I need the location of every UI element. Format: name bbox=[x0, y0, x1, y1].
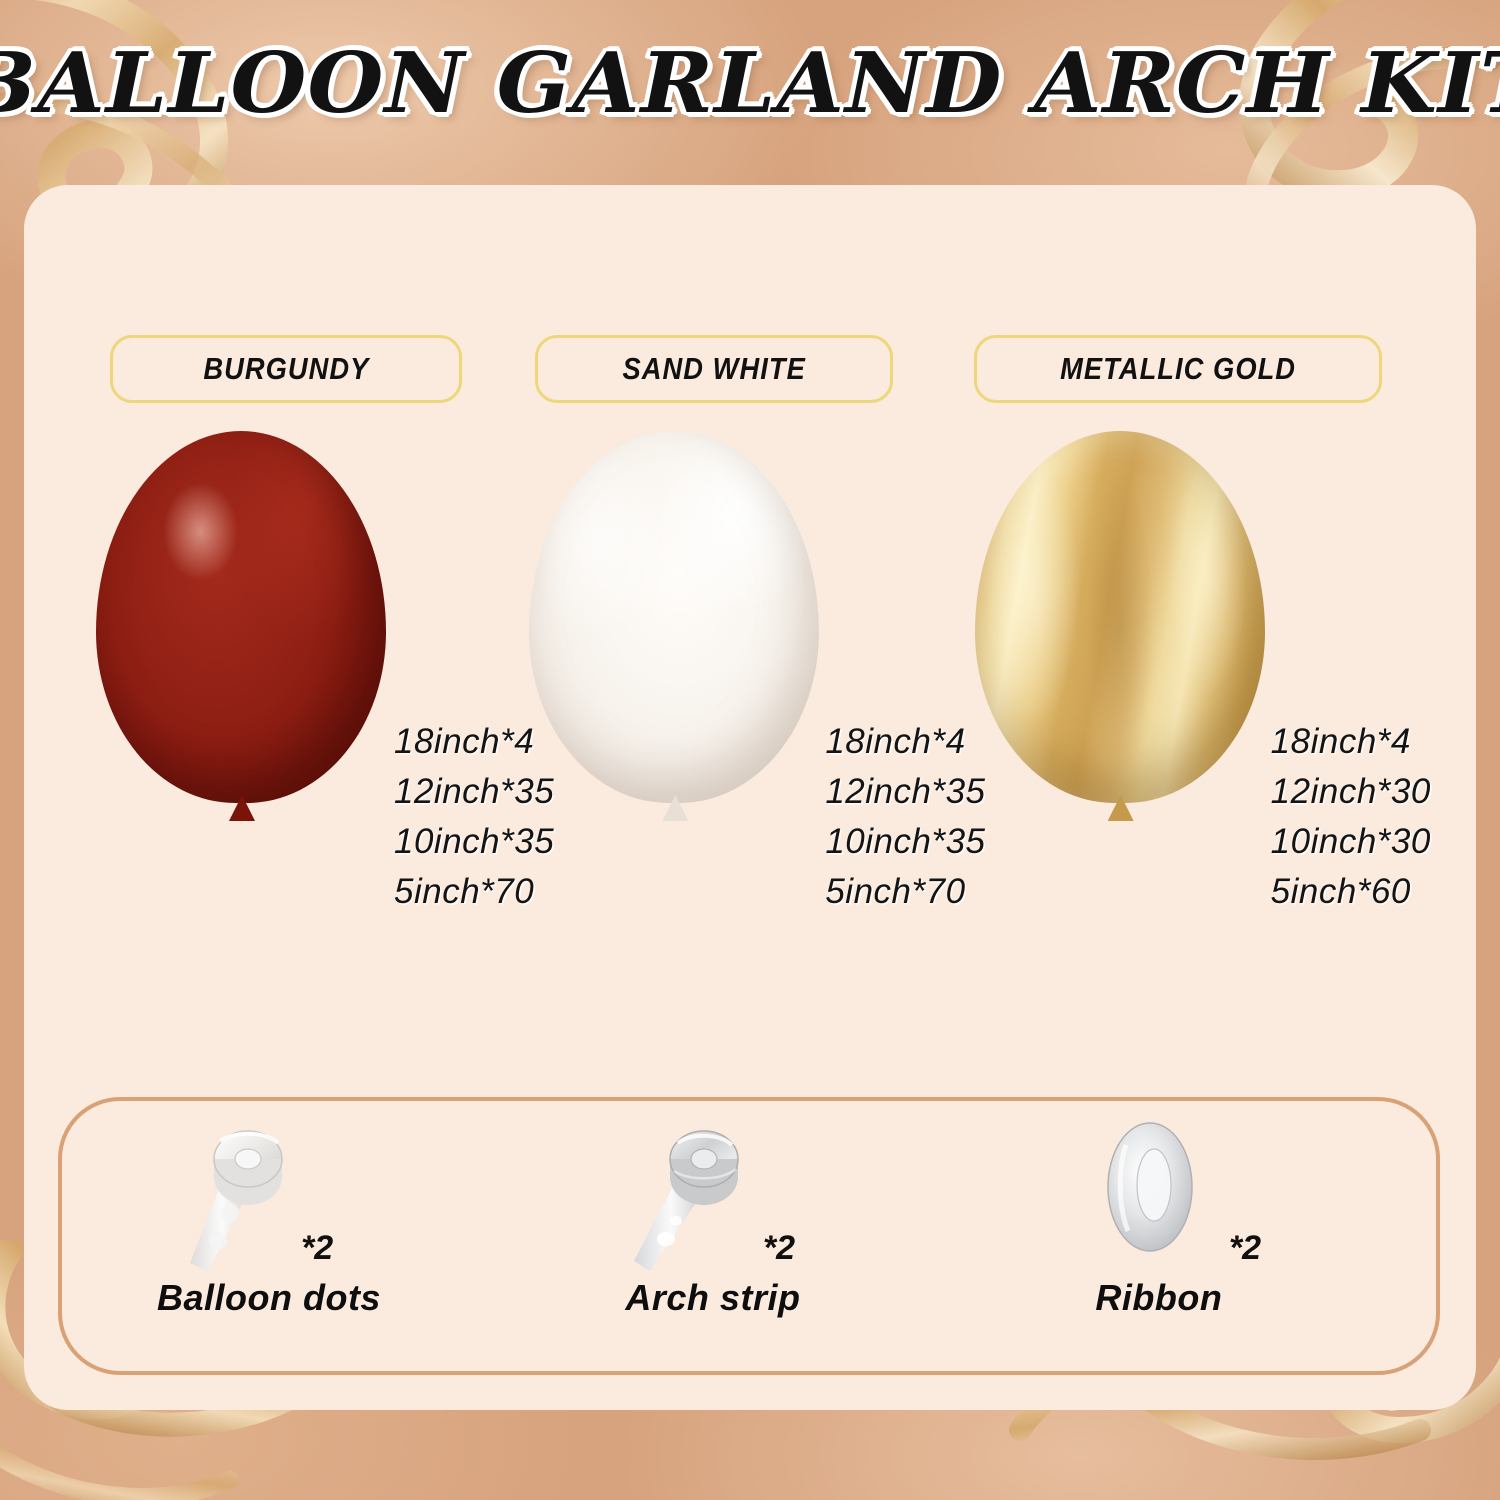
size-list-metallic-gold: 18inch*4 12inch*30 10inch*30 5inch*60 bbox=[1271, 717, 1431, 917]
accessory-ribbon: *2 Ribbon bbox=[978, 1101, 1436, 1371]
product-infographic: BALLOON GARLAND ARCH KIT BURGUNDY 18inch… bbox=[0, 0, 1500, 1500]
accessory-name: Ribbon bbox=[930, 1277, 1388, 1319]
accessories-box: *2 Balloon dots bbox=[58, 1097, 1440, 1375]
balloon-metallic-gold-icon bbox=[975, 431, 1275, 851]
size-line: 12inch*35 bbox=[825, 767, 985, 817]
color-column-sand-white: SAND WHITE 18inch*4 12inch*35 10inch*35 … bbox=[529, 335, 972, 1155]
size-line: 5inch*60 bbox=[1271, 867, 1431, 917]
content-card: BURGUNDY 18inch*4 12inch*35 10inch*35 5i… bbox=[24, 185, 1476, 1410]
accessory-quantity: *2 bbox=[301, 1229, 333, 1268]
color-label-text: BURGUNDY bbox=[203, 351, 369, 387]
color-column-metallic-gold: METALLIC GOLD 18inch*4 12inch*30 10inch*… bbox=[973, 335, 1416, 1155]
size-list-sand-white: 18inch*4 12inch*35 10inch*35 5inch*70 bbox=[825, 717, 985, 917]
color-label-text: METALLIC GOLD bbox=[1060, 351, 1296, 387]
color-column-burgundy: BURGUNDY 18inch*4 12inch*35 10inch*35 5i… bbox=[86, 335, 529, 1155]
accessory-name: Balloon dots bbox=[40, 1277, 498, 1319]
color-label-pill-burgundy: BURGUNDY bbox=[110, 335, 462, 403]
balloon-body bbox=[96, 431, 386, 803]
color-label-pill-sand-white: SAND WHITE bbox=[535, 335, 893, 403]
size-line: 10inch*30 bbox=[1271, 817, 1431, 867]
accessory-arch-strip: *2 Arch strip bbox=[520, 1101, 978, 1371]
balloon-body bbox=[975, 431, 1265, 803]
balloon-burgundy-icon bbox=[96, 431, 396, 851]
size-line: 5inch*70 bbox=[825, 867, 985, 917]
size-line: 10inch*35 bbox=[825, 817, 985, 867]
accessory-name: Arch strip bbox=[484, 1277, 942, 1319]
page-title: BALLOON GARLAND ARCH KIT bbox=[0, 34, 1500, 132]
size-line: 18inch*4 bbox=[1271, 717, 1431, 767]
color-label-pill-metallic-gold: METALLIC GOLD bbox=[974, 335, 1382, 403]
balloon-body bbox=[529, 431, 819, 803]
size-line: 18inch*4 bbox=[825, 717, 985, 767]
balloon-color-columns: BURGUNDY 18inch*4 12inch*35 10inch*35 5i… bbox=[86, 335, 1416, 1155]
accessory-quantity: *2 bbox=[1229, 1229, 1261, 1268]
accessory-quantity: *2 bbox=[763, 1229, 795, 1268]
ribbon-spool-icon bbox=[1070, 1115, 1240, 1275]
balloon-sand-white-icon bbox=[529, 431, 829, 851]
color-label-text: SAND WHITE bbox=[623, 351, 806, 387]
size-line: 12inch*30 bbox=[1271, 767, 1431, 817]
accessory-balloon-dots: *2 Balloon dots bbox=[62, 1101, 520, 1371]
